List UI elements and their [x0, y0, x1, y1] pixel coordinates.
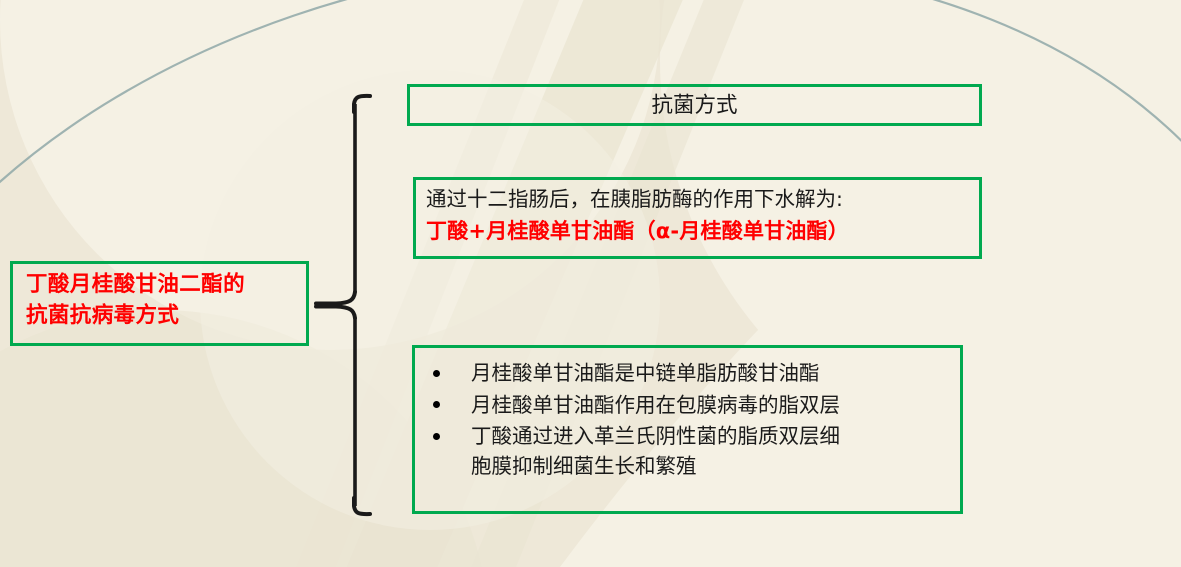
- root-node-text: 丁酸月桂酸甘油二酯的抗菌抗病毒方式: [26, 270, 245, 331]
- root-node-box[interactable]: 丁酸月桂酸甘油二酯的抗菌抗病毒方式: [10, 261, 309, 346]
- curly-brace-connector: [312, 78, 372, 530]
- list-item: 丁酸通过进入革兰氏阴性菌的脂质双层细 胞膜抑制细菌生长和繁殖: [423, 422, 956, 481]
- slide-canvas: 丁酸月桂酸甘油二酯的抗菌抗病毒方式 抗菌方式 通过十二指肠后，在胰脂肪酶的作用下…: [0, 0, 1181, 567]
- branch-box-hydrolysis[interactable]: 通过十二指肠后，在胰脂肪酶的作用下水解为: 丁酸+月桂酸单甘油酯（α-月桂酸单甘…: [413, 177, 982, 259]
- root-node-line-1: 丁酸月桂酸甘油二酯的: [26, 272, 245, 297]
- root-node-line-2: 抗菌抗病毒方式: [26, 303, 179, 328]
- branch-box-method[interactable]: 抗菌方式: [407, 84, 982, 126]
- mechanism-bullet-list: 月桂酸单甘油酯是中链单脂肪酸甘油酯 月桂酸单甘油酯作用在包膜病毒的脂双层 丁酸通…: [423, 359, 956, 484]
- bullet-dot-icon: [433, 370, 440, 377]
- bullet-text-continuation: 胞膜抑制细菌生长和繁殖: [471, 452, 956, 482]
- branch-method-title: 抗菌方式: [410, 92, 979, 120]
- list-item: 月桂酸单甘油酯是中链单脂肪酸甘油酯: [423, 359, 956, 389]
- bullet-text: 月桂酸单甘油酯是中链单脂肪酸甘油酯: [471, 359, 956, 389]
- branch-box-mechanism[interactable]: 月桂酸单甘油酯是中链单脂肪酸甘油酯 月桂酸单甘油酯作用在包膜病毒的脂双层 丁酸通…: [412, 345, 963, 514]
- bullet-text: 月桂酸单甘油酯作用在包膜病毒的脂双层: [471, 391, 956, 421]
- bullet-dot-icon: [433, 433, 440, 440]
- list-item: 月桂酸单甘油酯作用在包膜病毒的脂双层: [423, 391, 956, 421]
- hydrolysis-products: 丁酸+月桂酸单甘油酯（α-月桂酸单甘油酯）: [426, 218, 849, 245]
- bullet-dot-icon: [433, 401, 440, 408]
- hydrolysis-description: 通过十二指肠后，在胰脂肪酶的作用下水解为:: [426, 186, 843, 212]
- bullet-text: 丁酸通过进入革兰氏阴性菌的脂质双层细: [471, 422, 956, 452]
